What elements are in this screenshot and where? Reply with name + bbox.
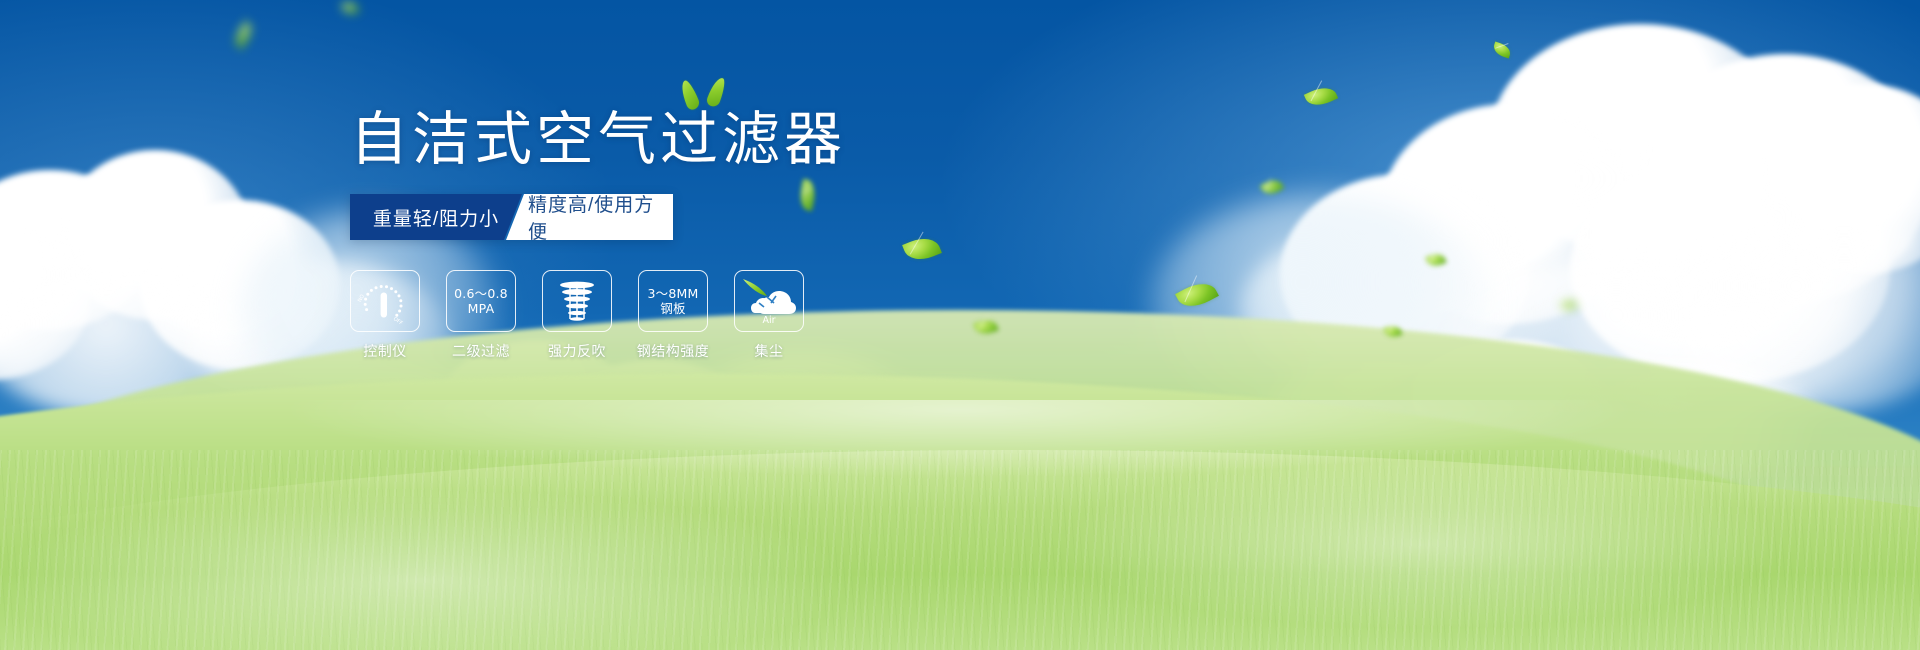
cloud-air-icon: Air: [740, 276, 798, 326]
pressure-text-icon: 0.6～0.8 MPA: [454, 286, 508, 317]
feature-item[interactable]: 0.6～0.8 MPA 二级过滤: [446, 270, 516, 361]
title-block: 自洁式空气过滤器: [350, 110, 846, 168]
gauge-dial-icon: NO OFF: [357, 277, 413, 325]
feature-icon-box: 0.6～0.8 MPA: [446, 270, 516, 332]
hero-banner: 自洁式空气过滤器 重量轻/阻力小 精度高/使用方便: [0, 0, 1920, 650]
filter-coil-icon: [552, 277, 602, 325]
banner-content: 自洁式空气过滤器 重量轻/阻力小 精度高/使用方便: [350, 110, 1110, 361]
tagline-right: 精度高/使用方便: [506, 194, 673, 240]
feature-caption: 集尘: [734, 341, 804, 361]
feature-item[interactable]: NO OFF 控制仪: [350, 270, 420, 361]
tagline-pill: 重量轻/阻力小 精度高/使用方便: [350, 194, 673, 240]
air-label: Air: [762, 315, 775, 326]
gauge-off-label: OFF: [392, 316, 404, 325]
feature-item[interactable]: 强力反吹: [542, 270, 612, 361]
grass-field: [0, 360, 1920, 650]
feature-item[interactable]: 3～8MM 钢板 钢结构强度: [638, 270, 708, 361]
leaf-ray-icon: [743, 279, 767, 296]
gauge-on-label: NO: [357, 294, 366, 304]
feature-icon-box: Air: [734, 270, 804, 332]
tagline-left: 重量轻/阻力小: [350, 194, 522, 240]
feature-caption: 钢结构强度: [625, 341, 721, 361]
steel-plate-text-icon: 3～8MM 钢板: [648, 286, 699, 317]
page-title: 自洁式空气过滤器: [350, 110, 846, 168]
feature-caption: 控制仪: [350, 341, 420, 361]
feature-list: NO OFF 控制仪 0.6～0.8 MPA 二级过滤: [350, 270, 1110, 361]
feature-caption: 二级过滤: [446, 341, 516, 361]
feature-icon-box: NO OFF: [350, 270, 420, 332]
feature-caption: 强力反吹: [542, 341, 612, 361]
feature-item[interactable]: Air 集尘: [734, 270, 804, 361]
feature-icon-box: 3～8MM 钢板: [638, 270, 708, 332]
feature-icon-box: [542, 270, 612, 332]
